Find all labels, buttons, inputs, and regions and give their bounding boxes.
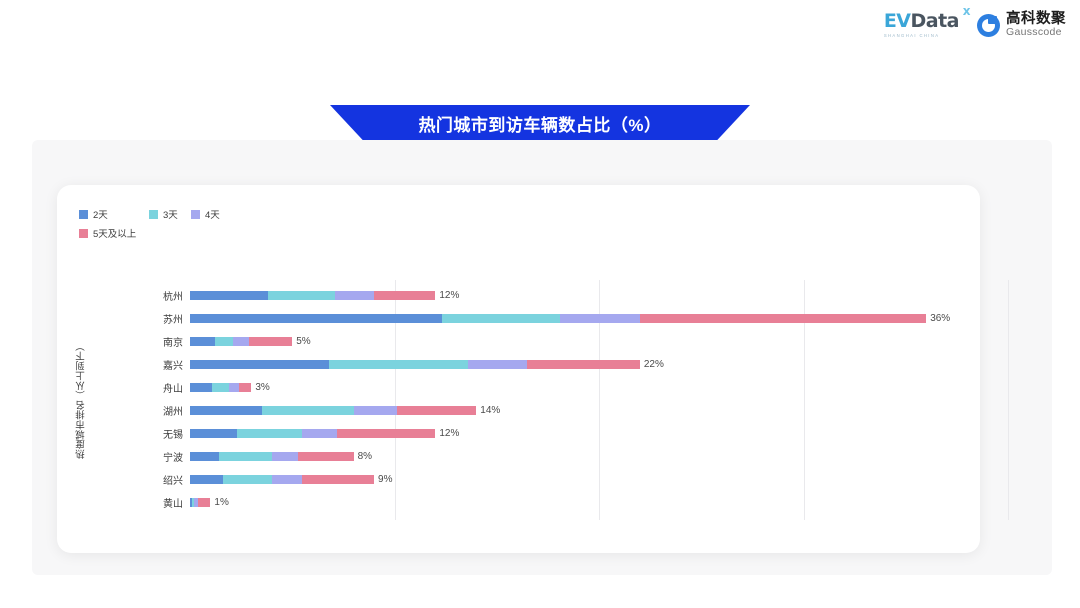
bar-segment-2天[interactable]: [190, 383, 212, 392]
category-label: 舟山: [100, 380, 183, 395]
bar-row[interactable]: 宁波8%: [57, 445, 980, 468]
bar-value-label: 8%: [358, 451, 372, 462]
bar-segment-3天[interactable]: [212, 383, 228, 392]
bar-segment-4天[interactable]: [560, 314, 640, 323]
bar-value-label: 14%: [480, 405, 500, 416]
legend-swatch-icon: [79, 210, 88, 219]
category-label: 嘉兴: [100, 357, 183, 372]
bar-value-label: 12%: [439, 428, 459, 439]
bar-segment-3天[interactable]: [442, 314, 561, 323]
bar-segment-3天[interactable]: [237, 429, 302, 438]
bar-value-label: 22%: [644, 359, 664, 370]
legend-label: 4天: [205, 207, 220, 221]
stacked-bar[interactable]: 8%: [190, 452, 372, 461]
legend-item-3天[interactable]: 3天: [149, 207, 191, 221]
bar-segment-2天[interactable]: [190, 452, 219, 461]
bar-segment-3天[interactable]: [215, 337, 233, 346]
bar-segment-2天[interactable]: [190, 291, 268, 300]
bar-segment-5天及以上[interactable]: [397, 406, 477, 415]
stacked-bar[interactable]: 12%: [190, 429, 459, 438]
stacked-bar[interactable]: 5%: [190, 337, 311, 346]
stacked-bar[interactable]: 3%: [190, 383, 270, 392]
stacked-bar[interactable]: 14%: [190, 406, 500, 415]
chart-title-banner: 热门城市到访车辆数占比（%）: [330, 105, 750, 141]
bar-value-label: 12%: [439, 290, 459, 301]
bar-segment-5天及以上[interactable]: [298, 452, 353, 461]
bar-segment-2天[interactable]: [190, 337, 215, 346]
category-label: 苏州: [100, 311, 183, 326]
page-title: 热门城市到访车辆数占比（%）: [418, 111, 661, 136]
bar-segment-4天[interactable]: [354, 406, 397, 415]
bar-segment-3天[interactable]: [223, 475, 272, 484]
bar-row[interactable]: 南京5%: [57, 330, 980, 353]
bar-row[interactable]: 绍兴9%: [57, 468, 980, 491]
bar-value-label: 5%: [296, 336, 310, 347]
category-label: 湖州: [100, 403, 183, 418]
bar-segment-4天[interactable]: [468, 360, 527, 369]
legend-item-5天及以上[interactable]: 5天及以上: [79, 226, 339, 240]
bar-segment-4天[interactable]: [272, 452, 299, 461]
bar-segment-4天[interactable]: [233, 337, 249, 346]
category-label: 宁波: [100, 449, 183, 464]
evdata-ev-text: EV: [884, 10, 911, 32]
bar-segment-5天及以上[interactable]: [640, 314, 926, 323]
legend-item-2天[interactable]: 2天: [79, 207, 149, 221]
stacked-bar[interactable]: 1%: [190, 498, 229, 507]
category-label: 南京: [100, 334, 183, 349]
bar-segment-4天[interactable]: [229, 383, 239, 392]
category-label: 无锡: [100, 426, 183, 441]
bar-row[interactable]: 苏州36%: [57, 307, 980, 330]
bar-segment-3天[interactable]: [268, 291, 335, 300]
bar-segment-4天[interactable]: [302, 429, 337, 438]
legend-swatch-icon: [79, 229, 88, 238]
bar-row[interactable]: 黄山1%: [57, 491, 980, 514]
bar-segment-5天及以上[interactable]: [302, 475, 374, 484]
bar-segment-3天[interactable]: [219, 452, 272, 461]
legend-label: 3天: [163, 207, 178, 221]
gausscode-en-name: Gausscode: [1006, 27, 1066, 38]
bar-segment-5天及以上[interactable]: [337, 429, 435, 438]
bar-row[interactable]: 杭州12%: [57, 284, 980, 307]
bar-segment-5天及以上[interactable]: [527, 360, 639, 369]
evdata-data-text: Data: [911, 10, 960, 32]
bar-value-label: 9%: [378, 474, 392, 485]
stacked-bar[interactable]: 36%: [190, 314, 950, 323]
stacked-bar[interactable]: 9%: [190, 475, 392, 484]
gridline: [1008, 280, 1009, 520]
legend-item-4天[interactable]: 4天: [191, 207, 251, 221]
bar-segment-2天[interactable]: [190, 360, 329, 369]
bar-segment-3天[interactable]: [329, 360, 468, 369]
legend-swatch-icon: [149, 210, 158, 219]
bar-segment-4天[interactable]: [272, 475, 303, 484]
bar-segment-2天[interactable]: [190, 314, 442, 323]
bar-segment-5天及以上[interactable]: [374, 291, 435, 300]
bar-segment-5天及以上[interactable]: [198, 498, 210, 507]
gausscode-logo: 高科数聚 Gausscode: [977, 12, 1066, 38]
chart-card: 2天3天4天5天及以上 热度城市排名（从上到下） 杭州12%苏州36%南京5%嘉…: [57, 185, 980, 553]
bar-segment-5天及以上[interactable]: [239, 383, 251, 392]
brand-logo-bar: EVDatax shanghai china 高科数聚 Gausscode: [884, 12, 1066, 38]
plot-area: 热度城市排名（从上到下） 杭州12%苏州36%南京5%嘉兴22%舟山3%湖州14…: [57, 280, 980, 520]
bar-segment-2天[interactable]: [190, 475, 223, 484]
category-label: 绍兴: [100, 472, 183, 487]
evdata-subtitle: shanghai china: [884, 33, 940, 38]
bar-rows: 杭州12%苏州36%南京5%嘉兴22%舟山3%湖州14%无锡12%宁波8%绍兴9…: [57, 284, 980, 514]
evdata-x-superscript: x: [963, 5, 970, 17]
bar-row[interactable]: 无锡12%: [57, 422, 980, 445]
bar-row[interactable]: 嘉兴22%: [57, 353, 980, 376]
bar-segment-4天[interactable]: [335, 291, 374, 300]
bar-segment-2天[interactable]: [190, 406, 262, 415]
gausscode-wordmark: 高科数聚 Gausscode: [1006, 12, 1066, 38]
chart-legend: 2天3天4天5天及以上: [79, 207, 339, 240]
legend-label: 2天: [93, 207, 108, 221]
stacked-bar[interactable]: 12%: [190, 291, 459, 300]
bar-value-label: 36%: [930, 313, 950, 324]
bar-segment-2天[interactable]: [190, 429, 237, 438]
evdata-wordmark: EVDatax: [884, 12, 959, 31]
bar-row[interactable]: 舟山3%: [57, 376, 980, 399]
stacked-bar[interactable]: 22%: [190, 360, 664, 369]
evdata-logo: EVDatax shanghai china: [884, 12, 959, 38]
category-label: 杭州: [100, 288, 183, 303]
bar-value-label: 3%: [255, 382, 269, 393]
bar-segment-5天及以上[interactable]: [249, 337, 292, 346]
gausscode-circle-logo-icon: [977, 14, 1000, 37]
bar-row[interactable]: 湖州14%: [57, 399, 980, 422]
gausscode-cn-name: 高科数聚: [1006, 12, 1066, 27]
bar-segment-3天[interactable]: [262, 406, 354, 415]
legend-swatch-icon: [191, 210, 200, 219]
legend-label: 5天及以上: [93, 226, 136, 240]
category-label: 黄山: [100, 495, 183, 510]
bar-value-label: 1%: [214, 497, 228, 508]
